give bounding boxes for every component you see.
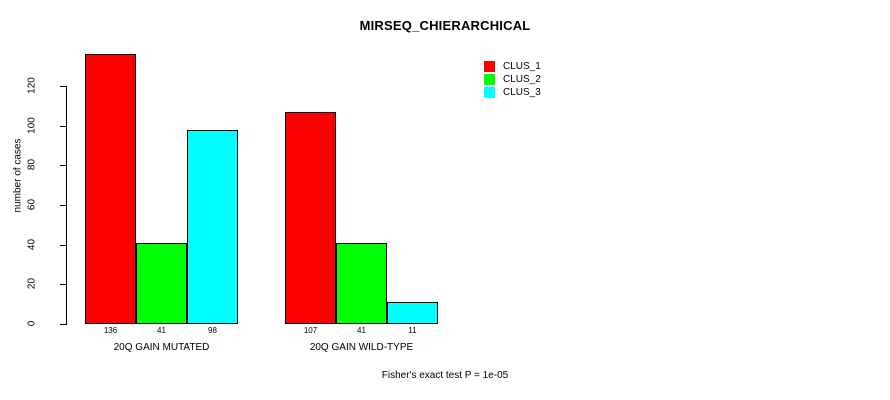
bar[interactable] (136, 243, 187, 324)
bar-value-label: 41 (336, 326, 387, 335)
legend-label-clus-1: CLUS_1 (503, 61, 541, 72)
legend-item[interactable]: CLUS_2 (484, 73, 594, 86)
bar[interactable] (85, 54, 136, 324)
legend-label-clus-2: CLUS_2 (503, 74, 541, 85)
x-axis-group-label: 20Q GAIN MUTATED (85, 342, 238, 353)
plot-area: 136419820Q GAIN MUTATED107411120Q GAIN W… (0, 0, 890, 400)
legend-swatch-clus-3 (484, 87, 495, 98)
bar[interactable] (336, 243, 387, 324)
bar-value-label: 107 (285, 326, 336, 335)
bar-value-label: 11 (387, 326, 438, 335)
bar-value-label: 136 (85, 326, 136, 335)
statistical-test-annotation: Fisher's exact test P = 1e-05 (0, 370, 890, 381)
legend-swatch-clus-2 (484, 74, 495, 85)
legend-label-clus-3: CLUS_3 (503, 87, 541, 98)
legend-item[interactable]: CLUS_1 (484, 60, 594, 73)
bar-value-label: 98 (187, 326, 238, 335)
legend-swatch-clus-1 (484, 61, 495, 72)
legend: CLUS_1 CLUS_2 CLUS_3 (484, 60, 594, 99)
bar-chart-figure: MIRSEQ_CHIERARCHICAL number of cases 020… (0, 0, 890, 400)
bar[interactable] (285, 112, 336, 324)
legend-item[interactable]: CLUS_3 (484, 86, 594, 99)
bar-value-label: 41 (136, 326, 187, 335)
bar[interactable] (387, 302, 438, 324)
bar[interactable] (187, 130, 238, 324)
x-axis-group-label: 20Q GAIN WILD-TYPE (285, 342, 438, 353)
